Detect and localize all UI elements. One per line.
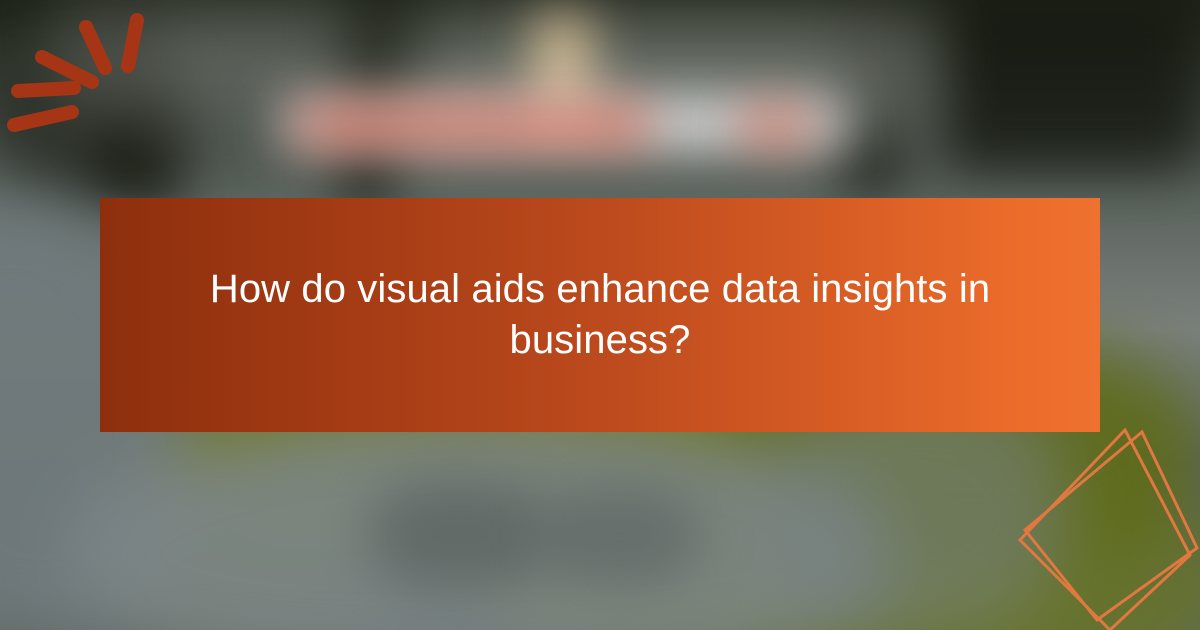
background-blur-finger-shadow — [370, 480, 550, 590]
background-blur-red-stripe — [300, 114, 650, 138]
background-blur-red-stripe-right — [740, 116, 810, 138]
background-blur-finger-shadow-2 — [540, 485, 700, 585]
share-card-canvas: How do visual aids enhance data insights… — [0, 0, 1200, 630]
headline-banner: How do visual aids enhance data insights… — [100, 198, 1100, 432]
background-blur-dark-mass-right — [940, 0, 1200, 170]
page-title: How do visual aids enhance data insights… — [156, 264, 1044, 366]
